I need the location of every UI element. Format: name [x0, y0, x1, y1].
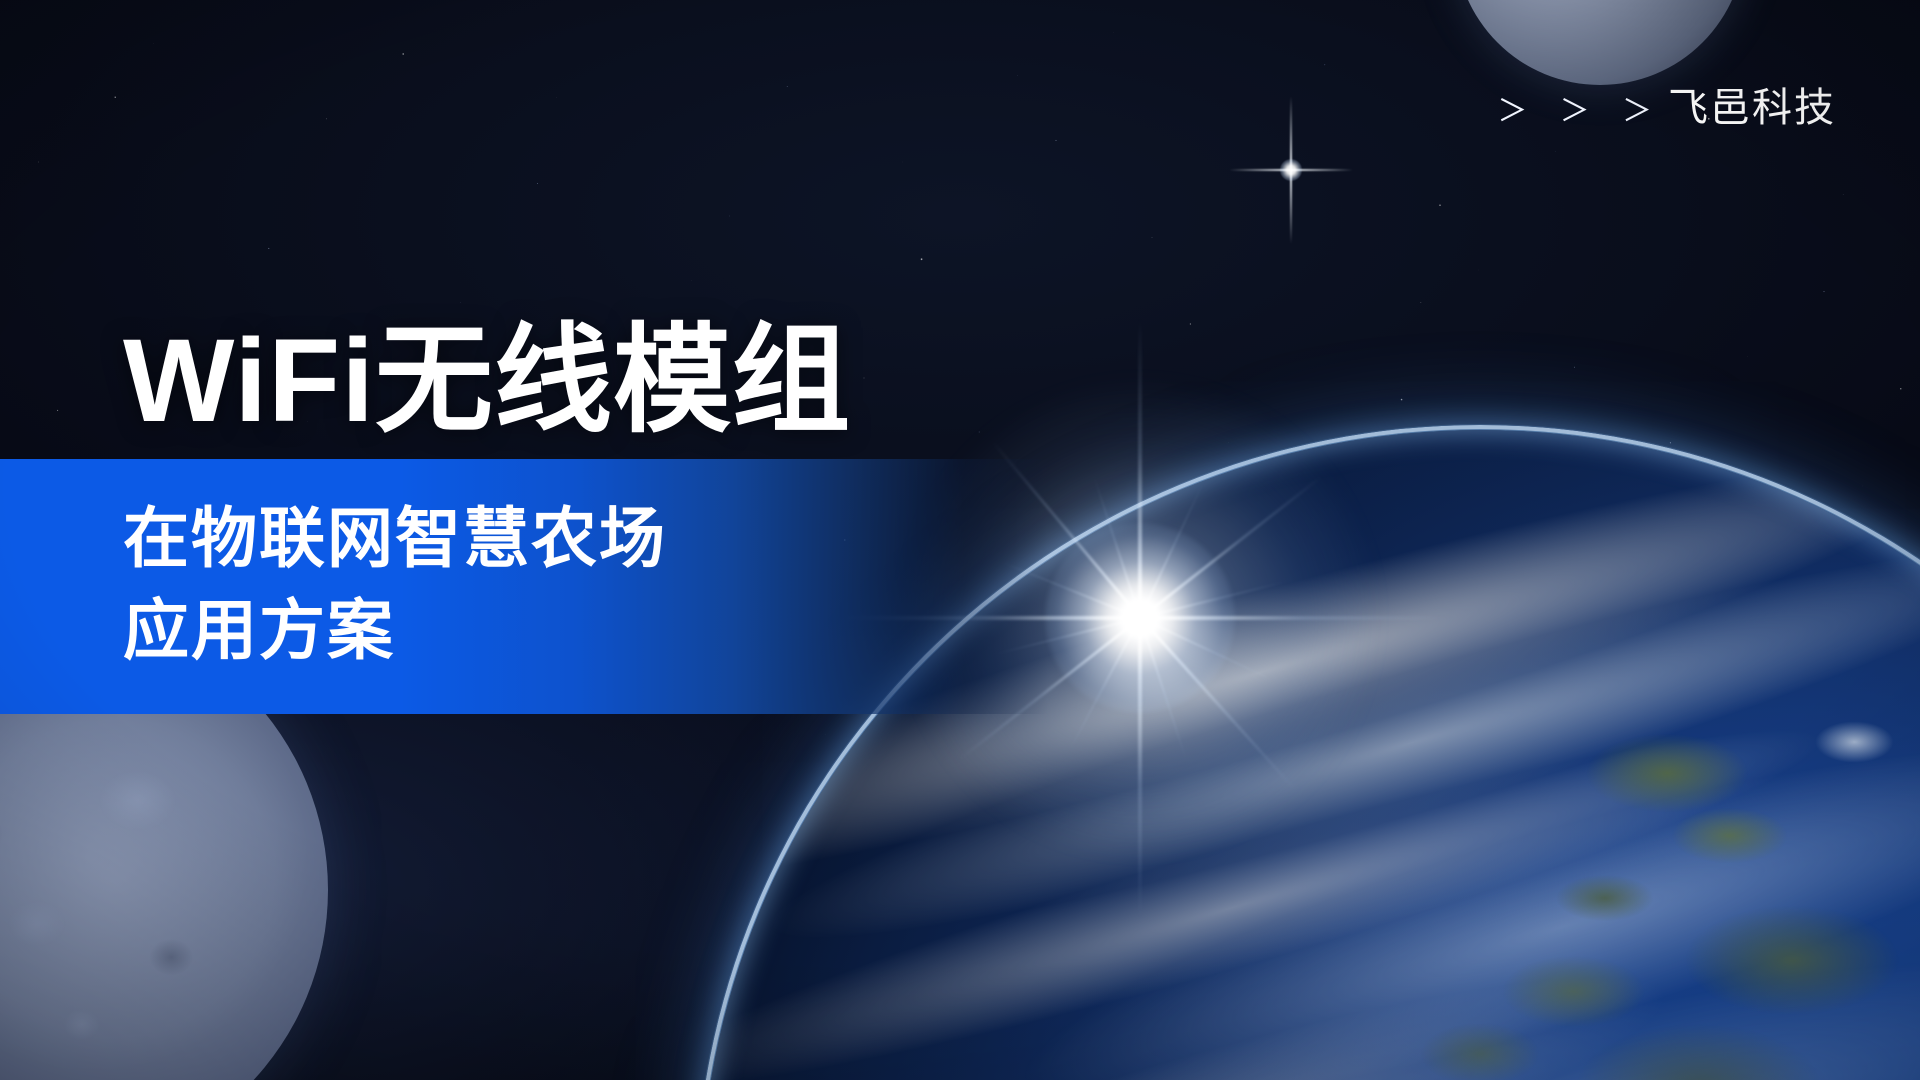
brand-name: 飞邑科技: [1668, 88, 1836, 128]
title-block: WiFi无线模组 在物联网智慧农场 应用方案: [0, 318, 1200, 714]
page-title: WiFi无线模组: [123, 318, 1200, 445]
subtitle-line-2: 应用方案: [123, 585, 1048, 676]
slide-canvas: ＞ ＞ ＞ 飞邑科技 WiFi无线模组 在物联网智慧农场 应用方案: [0, 0, 1920, 1080]
brand-mark: ＞ ＞ ＞ 飞邑科技: [1497, 88, 1836, 128]
star-core: [1280, 159, 1302, 181]
subtitle-line-1: 在物联网智慧农场: [123, 493, 1048, 584]
chevron-right-icon: ＞ ＞ ＞: [1497, 97, 1664, 127]
subtitle-band: 在物联网智慧农场 应用方案: [0, 459, 1048, 713]
